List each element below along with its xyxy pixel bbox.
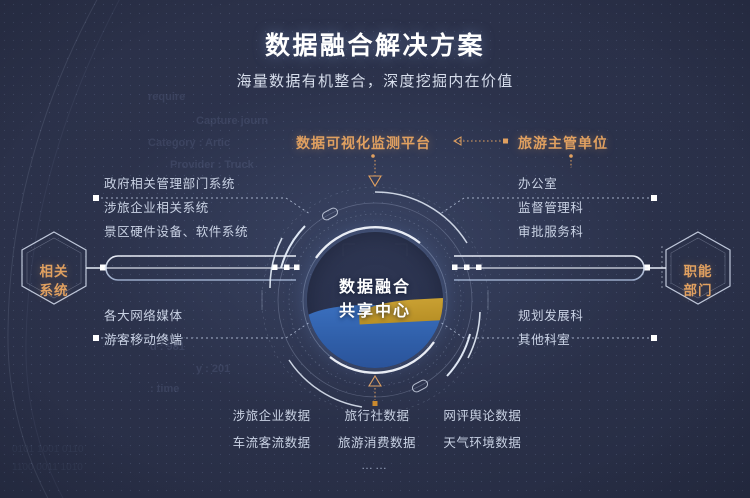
dotted-left-arrow-icon bbox=[454, 137, 508, 145]
hexagon-left-label: 相关 系统 bbox=[16, 262, 92, 300]
svg-text:0101 1001 0110: 0101 1001 0110 bbox=[12, 444, 84, 455]
list-item[interactable]: 景区硬件设备、软件系统 bbox=[104, 220, 248, 244]
hub-label: 数据融合 共享中心 bbox=[307, 232, 443, 368]
label-visualization-platform[interactable]: 数据可视化监测平台 bbox=[296, 133, 431, 153]
list-item[interactable]: 监督管理科 bbox=[518, 196, 584, 220]
svg-text:Category : Artic: Category : Artic bbox=[148, 137, 230, 149]
central-hub[interactable]: 数据融合 共享中心 bbox=[307, 232, 443, 368]
hexagon-right-line2: 部门 bbox=[660, 281, 736, 300]
svg-text:Capture journ: Capture journ bbox=[196, 115, 268, 127]
svg-text:: time: : time bbox=[150, 383, 179, 395]
list-item[interactable]: 办公室 bbox=[518, 172, 584, 196]
bus-pipe-left bbox=[104, 256, 300, 280]
data-item[interactable]: 车流客流数据 bbox=[222, 432, 321, 454]
left-bottom-system-list: 各大网络媒体 游客移动终端 bbox=[104, 304, 183, 352]
data-item[interactable]: 旅游消费数据 bbox=[327, 432, 426, 454]
data-item[interactable]: 旅行社数据 bbox=[327, 405, 426, 427]
list-item[interactable]: 游客移动终端 bbox=[104, 328, 183, 352]
list-item[interactable]: 审批服务科 bbox=[518, 220, 584, 244]
hexagon-left-line1: 相关 bbox=[16, 262, 92, 281]
label-tourism-authority[interactable]: 旅游主管单位 bbox=[518, 133, 608, 153]
hexagon-left-line2: 系统 bbox=[16, 281, 92, 300]
list-item[interactable]: 其他科室 bbox=[518, 328, 584, 352]
list-item[interactable]: 各大网络媒体 bbox=[104, 304, 183, 328]
page-subtitle: 海量数据有机整合，深度挖掘内在价值 bbox=[0, 70, 750, 91]
triangle-up-icon bbox=[369, 376, 381, 386]
list-item[interactable]: 涉旅企业相关系统 bbox=[104, 196, 248, 220]
list-item[interactable]: 政府相关管理部门系统 bbox=[104, 172, 248, 196]
right-bottom-department-list: 规划发展科 其他科室 bbox=[518, 304, 584, 352]
hub-label-line1: 数据融合 bbox=[339, 276, 411, 300]
svg-text:require: require bbox=[148, 91, 185, 103]
left-top-system-list: 政府相关管理部门系统 涉旅企业相关系统 景区硬件设备、软件系统 bbox=[104, 172, 248, 244]
hub-label-line2: 共享中心 bbox=[339, 300, 411, 324]
data-item[interactable]: 涉旅企业数据 bbox=[222, 405, 321, 427]
triangle-down-icon bbox=[369, 176, 381, 186]
data-item[interactable]: 网评舆论数据 bbox=[433, 405, 532, 427]
svg-text:y : 201: y : 201 bbox=[196, 363, 230, 375]
svg-text:Provider : Truck: Provider : Truck bbox=[170, 159, 255, 171]
right-top-department-list: 办公室 监督管理科 审批服务科 bbox=[518, 172, 584, 244]
data-item[interactable]: 天气环境数据 bbox=[433, 432, 532, 454]
page-title: 数据融合解决方案 bbox=[0, 26, 750, 62]
infographic-canvas: require Capture journ Category : Artic P… bbox=[0, 0, 750, 498]
bottom-ellipsis: …… bbox=[0, 458, 750, 472]
bus-pipe-right bbox=[452, 256, 648, 280]
hexagon-right-label: 职能 部门 bbox=[660, 262, 736, 300]
list-item[interactable]: 规划发展科 bbox=[518, 304, 584, 328]
hexagon-right-line1: 职能 bbox=[660, 262, 736, 281]
bottom-data-grid: 涉旅企业数据 旅行社数据 网评舆论数据 车流客流数据 旅游消费数据 天气环境数据 bbox=[222, 405, 532, 454]
